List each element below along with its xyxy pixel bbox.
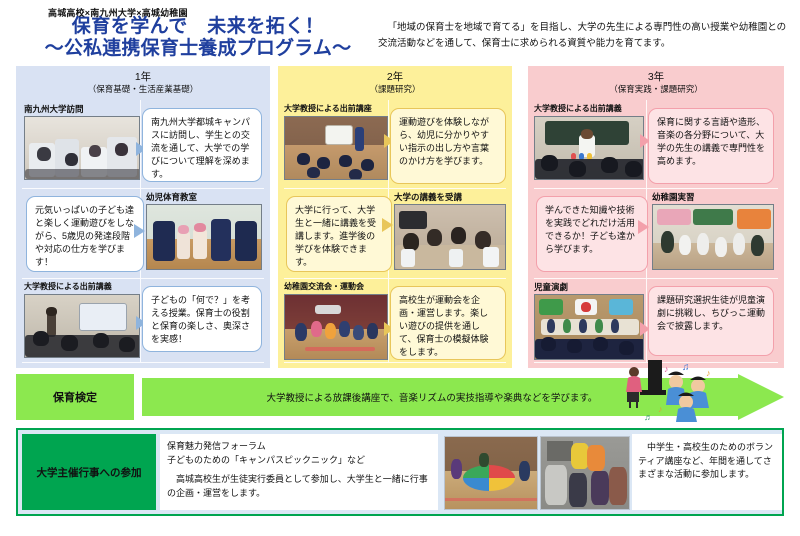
activity-cell-y3-1: 大学教授による出前講義 — [534, 104, 644, 180]
activity-bubble-y1-2: 元気いっぱいの子ども達と楽しく運動遊びをしながら、5歳児の発達段階や対応の仕方を… — [26, 196, 144, 272]
poster-header: 高城高校×南九州大学×高城幼稚園 保育を学んで 未来を拓く！ 〜公私連携保育士養… — [0, 0, 800, 64]
activity-photo-childrens-theater — [534, 294, 644, 360]
volunteer-note: 中学生・高校生のためのボランティア講座など、年間を通してさまざまな活動に参加しま… — [632, 434, 782, 510]
title-line-2: 〜公私連携保育士養成プログラム〜 — [18, 38, 378, 60]
column-header-year-2: 2年 （課題研究） — [278, 66, 512, 100]
activity-caption: 南九州大学訪問 — [24, 104, 140, 114]
column-year-1: 1年 （保育基礎・生活産業基礎） 南九州大学訪問 — [16, 66, 270, 368]
column-year-2: 2年 （課題研究） 大学教授による出前講座 — [278, 66, 512, 368]
activity-cell-y2-3: 幼稚園交流会・運動会 — [284, 282, 388, 360]
poster-root: 高城高校×南九州大学×高城幼稚園 保育を学んで 未来を拓く！ 〜公私連携保育士養… — [0, 0, 800, 536]
certification-band: 保育検定 大学教授による放課後講座で、音楽リズムの実技指導や楽典などを学びます。… — [16, 374, 784, 420]
activity-cell-y2-2: 大学の講義を受講 — [394, 192, 506, 270]
year-subtitle: （保育実践・課題研究） — [609, 84, 703, 95]
activity-cell-y1-2: 幼児体育教室 — [146, 192, 262, 270]
music-children-illustration: ♪ ♫ ♪ ♪ ♬ — [620, 360, 740, 422]
activity-cell-y3-3: 児童演劇 — [534, 282, 644, 360]
column-body-year-3: 大学教授による出前講義 — [528, 100, 784, 368]
university-events-label: 大学主催行事への参加 — [22, 434, 156, 510]
year-label: 3年 — [648, 71, 664, 84]
university-events-section: 大学主催行事への参加 保育魅力発信フォーラム 子どものための「キャンパスピックニ… — [16, 428, 784, 516]
year-label: 1年 — [135, 71, 151, 84]
year-subtitle: （保育基礎・生活産業基礎） — [88, 84, 199, 95]
activity-bubble-y3-3: 課題研究選択生徒が児童演劇に挑戦し、ちびっこ運動会で披露します。 — [648, 286, 774, 356]
activity-photo-guest-lecture — [24, 294, 140, 358]
activity-bubble-y2-2: 大学に行って、大学生と一緒に講義を受講します。進学後の学びを体験できます。 — [286, 196, 392, 272]
activity-caption: 児童演劇 — [534, 282, 644, 292]
activity-bubble-y3-1: 保育に関する言語や造形、音楽の各分野について、大学の先生の講義で専門性を高めます… — [648, 108, 774, 184]
activity-photo-kindergarten-practicum — [652, 204, 774, 270]
activity-caption: 大学教授による出前講義 — [24, 282, 140, 292]
activity-caption: 大学教授による出前講座 — [284, 104, 388, 114]
title-line-1: 保育を学んで 未来を拓く！ — [18, 16, 378, 38]
svg-text:♪: ♪ — [664, 364, 669, 374]
volunteer-note-text: 中学生・高校生のためのボランティア講座など、年間を通してさまざまな活動に参加しま… — [638, 441, 776, 482]
column-header-year-3: 3年 （保育実践・課題研究） — [528, 66, 784, 100]
activity-caption: 幼稚園交流会・運動会 — [284, 282, 388, 292]
certification-label: 保育検定 — [16, 374, 134, 420]
activity-bubble-y2-3: 高校生が運動会を企画・運営します。楽しい遊びの提供を通して、保育士の模擬体験をし… — [390, 286, 506, 360]
column-body-year-2: 大学教授による出前講座 運動遊びを体験し — [278, 100, 512, 368]
activity-cell-y1-3: 大学教授による出前講義 — [24, 282, 140, 358]
svg-text:♪: ♪ — [706, 368, 711, 378]
event-line-1: 保育魅力発信フォーラム — [167, 441, 266, 451]
program-description-text: 「地域の保育士を地域で育てる」を目指し、大学の先生による専門性の高い授業や幼稚園… — [378, 20, 790, 51]
activity-cell-y3-2: 幼稚園実習 — [652, 192, 774, 270]
column-year-3: 3年 （保育実践・課題研究） 大学教授による出前講義 — [528, 66, 784, 368]
activity-photo-kindergarten-sports-day — [284, 294, 388, 360]
activity-photo-child-pe-class — [146, 204, 262, 270]
activity-photo-university-visit — [24, 116, 140, 180]
activity-caption: 幼児体育教室 — [146, 192, 262, 202]
activity-bubble-y1-1: 南九州大学都城キャンパスに訪問し、学生との交流を通して、大学での学びについて理解… — [142, 108, 262, 182]
svg-text:♪: ♪ — [658, 404, 663, 414]
page-title: 保育を学んで 未来を拓く！ 〜公私連携保育士養成プログラム〜 — [18, 16, 378, 60]
activity-cell-y1-1: 南九州大学訪問 — [24, 104, 140, 180]
svg-text:♫: ♫ — [682, 362, 690, 373]
activity-bubble-y2-1: 運動遊びを体験しながら、幼児に分かりやすい指示の出し方や言葉のかけ方を学びます。 — [390, 108, 506, 184]
activity-bubble-y3-2: 学んできた知識や技術を実践でどれだけ活用できるか！子ども達から学びます。 — [536, 196, 648, 272]
event-line-2: 子どものための「キャンパスピックニック」など — [167, 455, 365, 465]
year-label: 2年 — [387, 71, 403, 84]
activity-caption: 大学の講義を受講 — [394, 192, 506, 202]
year-columns-grid: 1年 （保育基礎・生活産業基礎） 南九州大学訪問 — [16, 66, 784, 368]
activity-photo-professor-lecture — [534, 116, 644, 180]
activity-caption: 幼稚園実習 — [652, 192, 774, 202]
program-description: 「地域の保育士を地域で育てる」を目指し、大学の先生による専門性の高い授業や幼稚園… — [378, 20, 790, 51]
activity-photo-gym-lecture — [284, 116, 388, 180]
svg-text:♬: ♬ — [644, 412, 653, 422]
event-photo-volunteer-activity — [540, 436, 630, 510]
column-body-year-1: 南九州大学訪問 南九州大学都城キャンパス — [16, 100, 270, 368]
column-header-year-1: 1年 （保育基礎・生活産業基礎） — [16, 66, 270, 100]
event-detail: 高城高校生が生徒実行委員として参加し、大学生と一緒に行事の企画・運営をします。 — [167, 473, 431, 500]
event-photo-parachute-game — [444, 436, 538, 510]
activity-photo-university-class — [394, 204, 506, 270]
year-subtitle: （課題研究） — [369, 84, 420, 95]
activity-caption: 大学教授による出前講義 — [534, 104, 644, 114]
activity-bubble-y1-3: 子どもの「何で？」を考える授業。保育士の役割と保育の楽しさ、奥深さを実感！ — [142, 286, 262, 352]
university-events-text: 保育魅力発信フォーラム 子どものための「キャンパスピックニック」など 高城高校生… — [160, 434, 438, 510]
activity-cell-y2-1: 大学教授による出前講座 — [284, 104, 388, 180]
